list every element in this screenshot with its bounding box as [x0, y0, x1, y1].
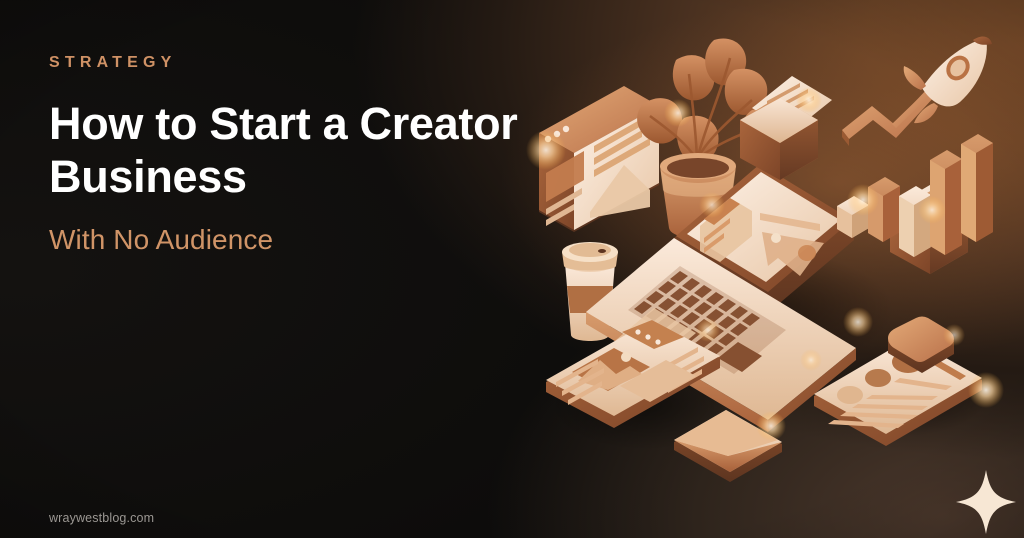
- creator-workspace-illustration: [524, 0, 1024, 538]
- site-url: wraywestblog.com: [49, 511, 154, 525]
- subtitle: With No Audience: [49, 223, 569, 257]
- headline-block: STRATEGY How to Start a Creator Business…: [49, 55, 569, 257]
- blog-banner: STRATEGY How to Start a Creator Business…: [0, 0, 1024, 538]
- sparkle-star-icon: [956, 470, 1016, 534]
- page-title: How to Start a Creator Business: [49, 97, 539, 203]
- rocket-object: [892, 37, 992, 128]
- category-eyebrow: STRATEGY: [49, 55, 569, 71]
